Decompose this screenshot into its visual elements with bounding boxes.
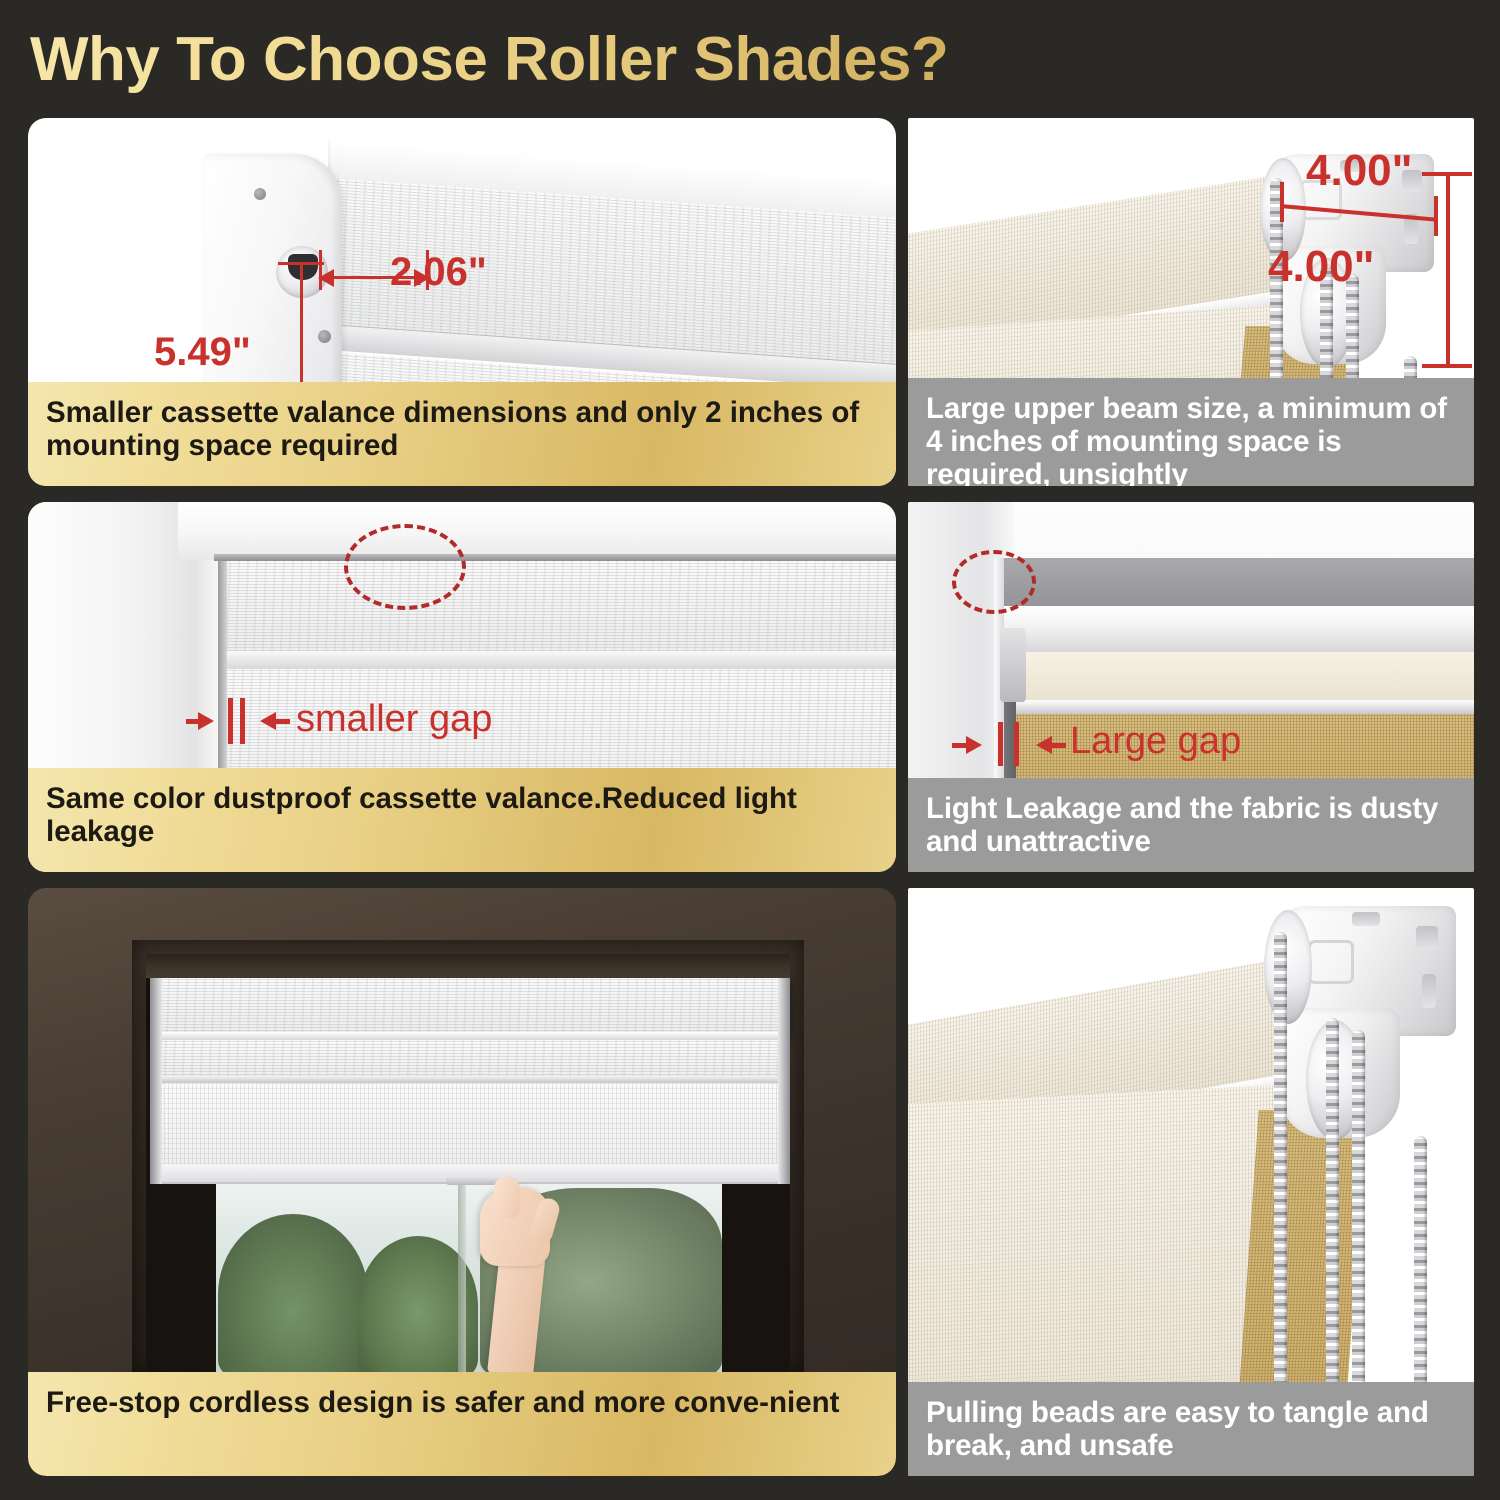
gap-marker-b <box>1014 722 1019 766</box>
cassette-valance-shadow <box>146 954 790 978</box>
end-cap-socket-hole <box>288 254 318 280</box>
panel-3: smaller gap Same color dustproof cassett… <box>28 502 896 872</box>
bracket-slot-2 <box>1422 974 1436 1008</box>
panel-6-caption: Pulling beads are easy to tangle and bre… <box>908 1382 1474 1476</box>
cassette-valance-face <box>220 561 896 651</box>
cream-band-edge <box>1004 700 1474 714</box>
highlight-ring <box>952 550 1036 614</box>
casing-inner-edge <box>214 554 896 561</box>
gap-arrow-right <box>260 712 276 730</box>
cream-band <box>1004 652 1474 704</box>
panel-1: 2.06" 5.49" Smaller cassette valance dim… <box>28 118 896 486</box>
dim-2-06-tick-left <box>319 250 322 290</box>
dim-400-v-label: 4.00" <box>1268 242 1375 292</box>
valance-lip-edge <box>156 1076 784 1083</box>
side-bracket-nub <box>1000 628 1026 702</box>
panel-5-caption: Free-stop cordless design is safer and m… <box>28 1372 896 1476</box>
panel-6: Pulling beads are easy to tangle and bre… <box>908 888 1474 1476</box>
panel-5: Free-stop cordless design is safer and m… <box>28 888 896 1476</box>
dim-2-06-label: 2.06" <box>390 250 487 295</box>
gap-arrow-right-stem <box>276 719 290 724</box>
shade-side-shadow-right <box>778 978 790 1184</box>
gap-arrow-left <box>198 712 214 730</box>
gap-marker-a <box>228 698 233 744</box>
dim-400-h-tick-right <box>1434 196 1438 236</box>
window-casing-top <box>178 502 896 560</box>
roller-disc-upper <box>1264 910 1312 1024</box>
gap-marker-a <box>998 722 1003 766</box>
end-cap-screw-top <box>254 188 266 200</box>
gap-arrow-right-stem <box>1052 743 1066 748</box>
valance-lower-lip <box>156 1040 784 1078</box>
dim-400-v-tick-top <box>1422 172 1472 176</box>
bracket-slot-3 <box>1352 912 1380 926</box>
shade-side-shadow-left <box>150 978 162 1184</box>
panel-3-caption: Same color dustproof cassette valance.Re… <box>28 768 896 872</box>
large-gap-label: Large gap <box>1070 720 1241 763</box>
gap-arrow-right <box>1036 736 1052 754</box>
cassette-valance <box>150 978 790 1034</box>
end-cap-screw-mid <box>318 330 331 343</box>
dim-5-49-tick-top <box>278 262 324 265</box>
gap-marker-b <box>240 698 245 744</box>
infographic-root: Why To Choose Roller Shades? <box>0 0 1500 1500</box>
highlight-ring <box>344 524 466 610</box>
bracket-slot-1 <box>1416 926 1438 950</box>
valance-bottom-rail <box>220 651 896 669</box>
bracket-emboss-upper <box>1308 940 1354 984</box>
dim-400-v-line <box>1446 172 1450 368</box>
panel-2: 4.00" 4.00" Large upper beam size, a min… <box>908 118 1474 486</box>
hand-finger <box>494 1176 520 1218</box>
foliage-left <box>218 1214 368 1376</box>
dim-400-h-label: 4.00" <box>1306 146 1413 196</box>
window-mullion <box>458 1180 466 1376</box>
gap-arrow-left-stem <box>186 719 200 724</box>
panel-2-caption: Large upper beam size, a minimum of 4 in… <box>908 378 1474 486</box>
gap-arrow-left-stem <box>952 743 968 748</box>
panel-1-caption: Smaller cassette valance dimensions and … <box>28 382 896 486</box>
dim-5-49-label: 5.49" <box>154 330 251 375</box>
dim-400-v-tick-bottom <box>1422 364 1472 368</box>
dim-400-h-tick-left <box>1280 182 1284 222</box>
valance-groove <box>150 1032 790 1040</box>
smaller-gap-label: smaller gap <box>296 698 492 741</box>
panel-4: Large gap Light Leakage and the fabric i… <box>908 502 1474 872</box>
gap-arrow-left <box>966 736 982 754</box>
page-title: Why To Choose Roller Shades? <box>30 20 1230 100</box>
panel-4-caption: Light Leakage and the fabric is dusty an… <box>908 778 1474 872</box>
